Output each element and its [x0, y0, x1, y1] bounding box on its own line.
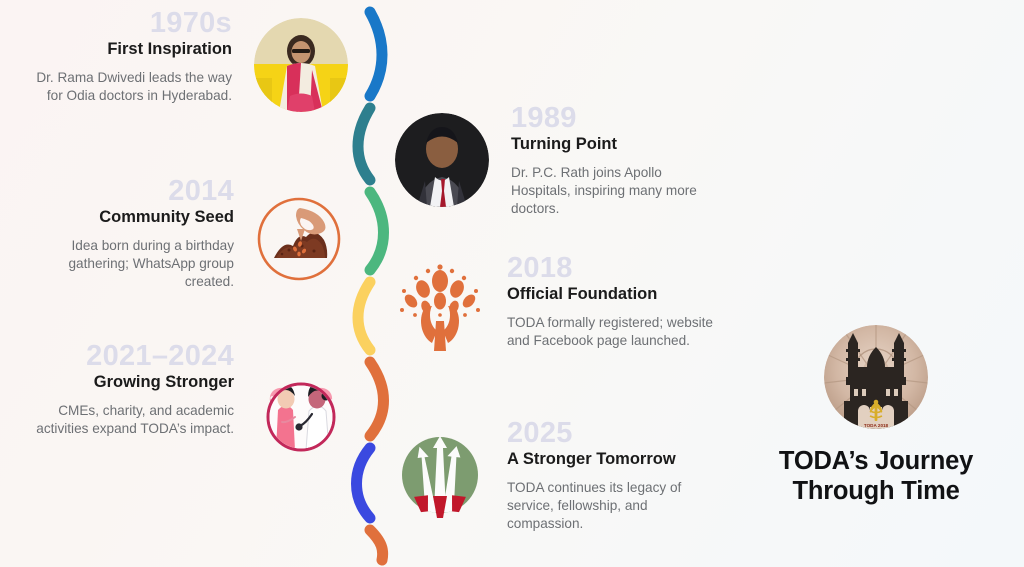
milestone-year: 2014: [168, 176, 234, 206]
milestone-title: Growing Stronger: [94, 373, 234, 393]
portrait-pc-rath: [395, 113, 489, 207]
milestone-description: TODA continues its legacy of service, fe…: [507, 479, 719, 533]
ribbon-segment-royal-blue: [357, 448, 371, 518]
milestone-year: 2018: [507, 253, 573, 283]
toda-charminar-logo: TODA 2018: [824, 325, 928, 429]
milestone-title: A Stronger Tomorrow: [507, 450, 676, 470]
milestone-description: TODA formally registered; website and Fa…: [507, 314, 719, 350]
milestone-description: Dr. Rama Dwivedi leads the way for Odia …: [22, 69, 232, 105]
milestone-title: Official Foundation: [507, 285, 657, 305]
milestone-title: Turning Point: [511, 135, 617, 155]
milestone-year: 1989: [511, 103, 577, 133]
logo-caption: TODA 2018: [864, 423, 889, 428]
milestone-1989: 1989 Turning Point Dr. P.C. Rath joins A…: [395, 103, 725, 218]
milestone-2018: 2018 Official Foundation TODA formally r…: [395, 253, 725, 353]
ribbon-segment-orange-2: [370, 530, 383, 560]
milestone-year: 1970s: [150, 8, 232, 38]
milestone-text: 2018 Official Foundation TODA formally r…: [507, 253, 719, 350]
milestone-text: 2014 Community Seed Idea born during a b…: [22, 176, 234, 291]
milestone-text: 1970s First Inspiration Dr. Rama Dwivedi…: [22, 8, 232, 105]
hero-title-line-1: TODA’s Journey: [779, 447, 973, 477]
portrait-rama-dwivedi: [254, 18, 348, 112]
milestone-1970s: 1970s First Inspiration Dr. Rama Dwivedi…: [22, 8, 348, 112]
rising-arrows-emblem-icon: [395, 430, 485, 520]
hero-title: TODA’s Journey Through Time: [779, 447, 973, 507]
milestone-title: Community Seed: [99, 208, 234, 228]
milestone-description: Idea born during a birthday gathering; W…: [22, 237, 234, 291]
hero-title-line-2: Through Time: [779, 477, 973, 507]
milestone-title: First Inspiration: [107, 40, 232, 60]
doctor-patient-heart-icon: [256, 365, 346, 455]
milestone-description: CMEs, charity, and academic activities e…: [22, 402, 234, 438]
milestone-2025: 2025 A Stronger Tomorrow TODA continues …: [395, 418, 725, 533]
hands-tree-icon: [395, 263, 485, 353]
milestone-text: 2025 A Stronger Tomorrow TODA continues …: [507, 418, 719, 533]
milestone-description: Dr. P.C. Rath joins Apollo Hospitals, in…: [511, 164, 723, 218]
milestone-2021-2024: 2021–2024 Growing Stronger CMEs, charity…: [22, 341, 348, 455]
ribbon-segment-blue: [370, 12, 382, 96]
milestone-text: 2021–2024 Growing Stronger CMEs, charity…: [22, 341, 234, 438]
ribbon-segment-yellow: [358, 282, 370, 350]
ribbon-segment-orange-1: [370, 362, 384, 436]
ribbon-segment-teal: [358, 108, 370, 180]
milestone-year: 2021–2024: [86, 341, 234, 371]
hero-panel: TODA 2018 TODA’s Journey Through Time: [745, 325, 1007, 507]
hand-planting-seed-icon: [256, 196, 342, 282]
milestone-text: 1989 Turning Point Dr. P.C. Rath joins A…: [511, 103, 723, 218]
milestone-2014: 2014 Community Seed Idea born during a b…: [22, 176, 348, 291]
ribbon-segment-green: [370, 192, 384, 270]
milestone-year: 2025: [507, 418, 573, 448]
